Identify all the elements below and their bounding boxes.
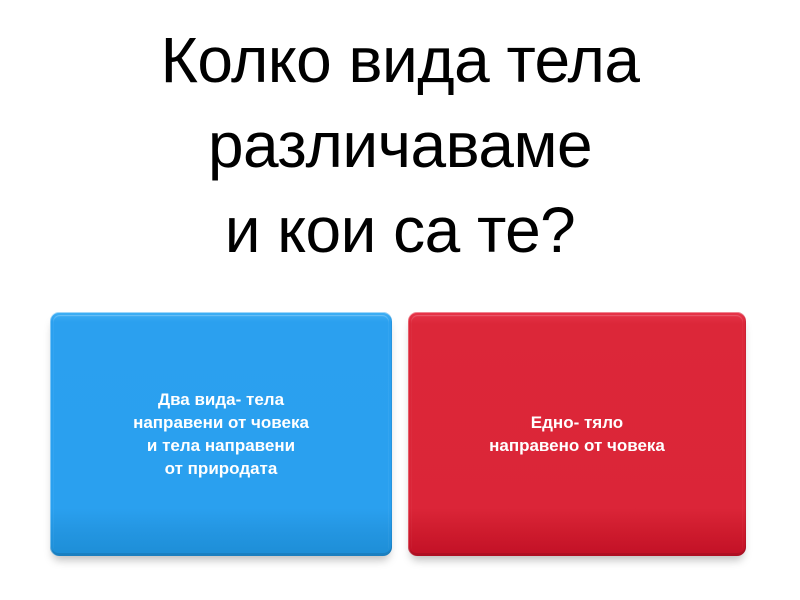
answer-options: Два вида- тела направени от човека и тел… <box>0 0 800 600</box>
answer-option-blue-label: Два вида- тела направени от човека и тел… <box>133 388 309 480</box>
answer-option-red[interactable]: Едно- тяло направено от човека <box>408 312 746 556</box>
answer-option-blue[interactable]: Два вида- тела направени от човека и тел… <box>50 312 392 556</box>
quiz-slide: Колко вида тела различаваме и кои са те?… <box>0 0 800 600</box>
answer-option-red-label: Едно- тяло направено от човека <box>489 411 665 457</box>
